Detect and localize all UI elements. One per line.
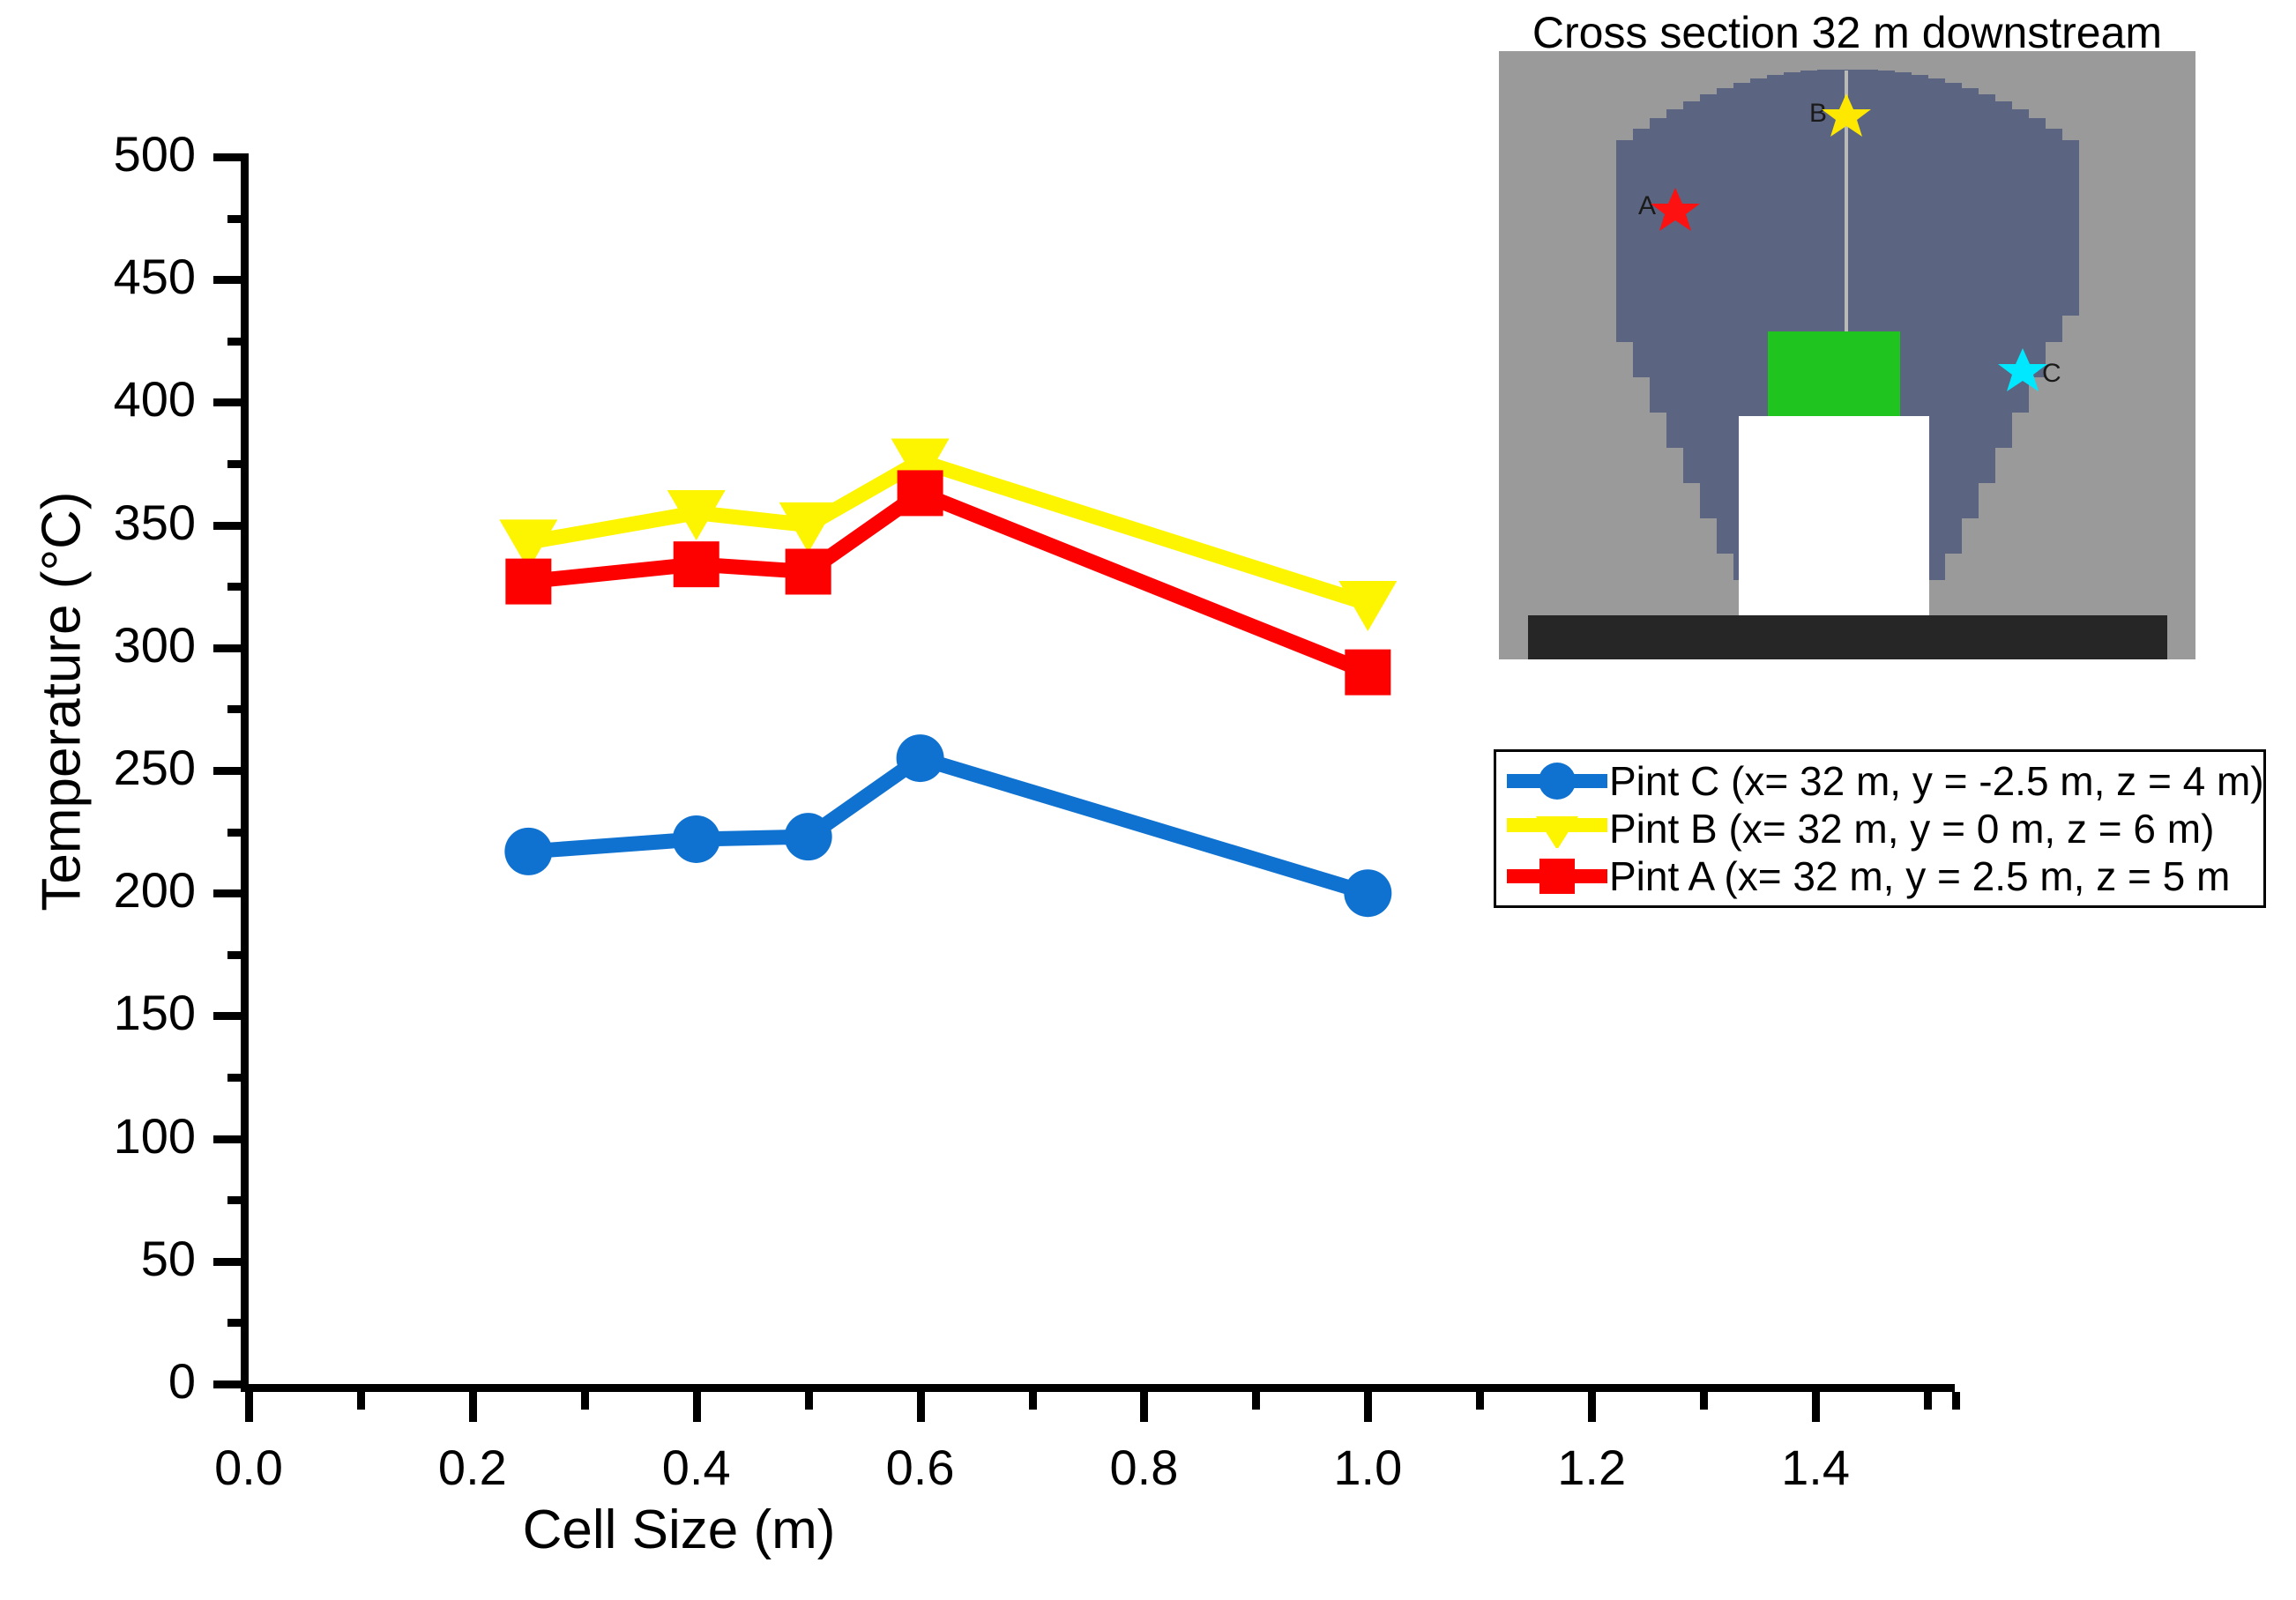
data-point-circle [504, 828, 552, 875]
legend-key-triangle [1505, 809, 1609, 848]
legend-item-1[interactable]: Pint B (x= 32 m, y = 0 m, z = 6 m) [1505, 805, 2255, 852]
data-point-square [674, 541, 719, 587]
legend-label-1: Pint B (x= 32 m, y = 0 m, z = 6 m) [1609, 808, 2214, 849]
marker-b-label: B [1809, 99, 1827, 128]
data-point-circle [673, 815, 720, 863]
data-point-square [505, 559, 551, 605]
data-point-circle [897, 734, 944, 782]
series-line [528, 758, 1368, 893]
marker-a-label: A [1638, 191, 1656, 220]
chart-page: Temperature (°C) Cell Size (m) 050100150… [0, 0, 2296, 1600]
legend-key-circle [1505, 762, 1609, 800]
body-block [1739, 416, 1929, 617]
data-point-circle [1344, 869, 1391, 917]
vehicle-block [1768, 331, 1900, 420]
data-point-square [786, 548, 831, 594]
legend-label-0: Pint C (x= 32 m, y = -2.5 m, z = 4 m) [1609, 761, 2264, 801]
marker-c-label: C [2042, 359, 2061, 388]
legend-marker-circle-icon [1505, 762, 1609, 800]
series-c [504, 734, 1391, 917]
data-point-triangle-down [1338, 581, 1397, 631]
chart-legend: Pint C (x= 32 m, y = -2.5 m, z = 4 m) Pi… [1494, 749, 2266, 908]
legend-key-square [1505, 857, 1609, 896]
cross-section-figure: A B C [1499, 51, 2195, 659]
road-strip [1528, 615, 2167, 659]
legend-label-2: Pint A (x= 32 m, y = 2.5 m, z = 5 m [1609, 856, 2230, 897]
legend-item-2[interactable]: Pint A (x= 32 m, y = 2.5 m, z = 5 m [1505, 852, 2255, 900]
legend-marker-triangle-down-icon [1505, 809, 1609, 848]
data-point-square [1345, 650, 1390, 696]
series-a [505, 470, 1390, 695]
data-point-circle [785, 813, 832, 860]
legend-item-0[interactable]: Pint C (x= 32 m, y = -2.5 m, z = 4 m) [1505, 757, 2255, 805]
data-point-square [898, 470, 943, 516]
series-b [499, 438, 1397, 631]
cross-section-inset: A B C [1499, 51, 2195, 659]
legend-marker-square-icon [1505, 857, 1609, 896]
series-line [528, 461, 1368, 604]
